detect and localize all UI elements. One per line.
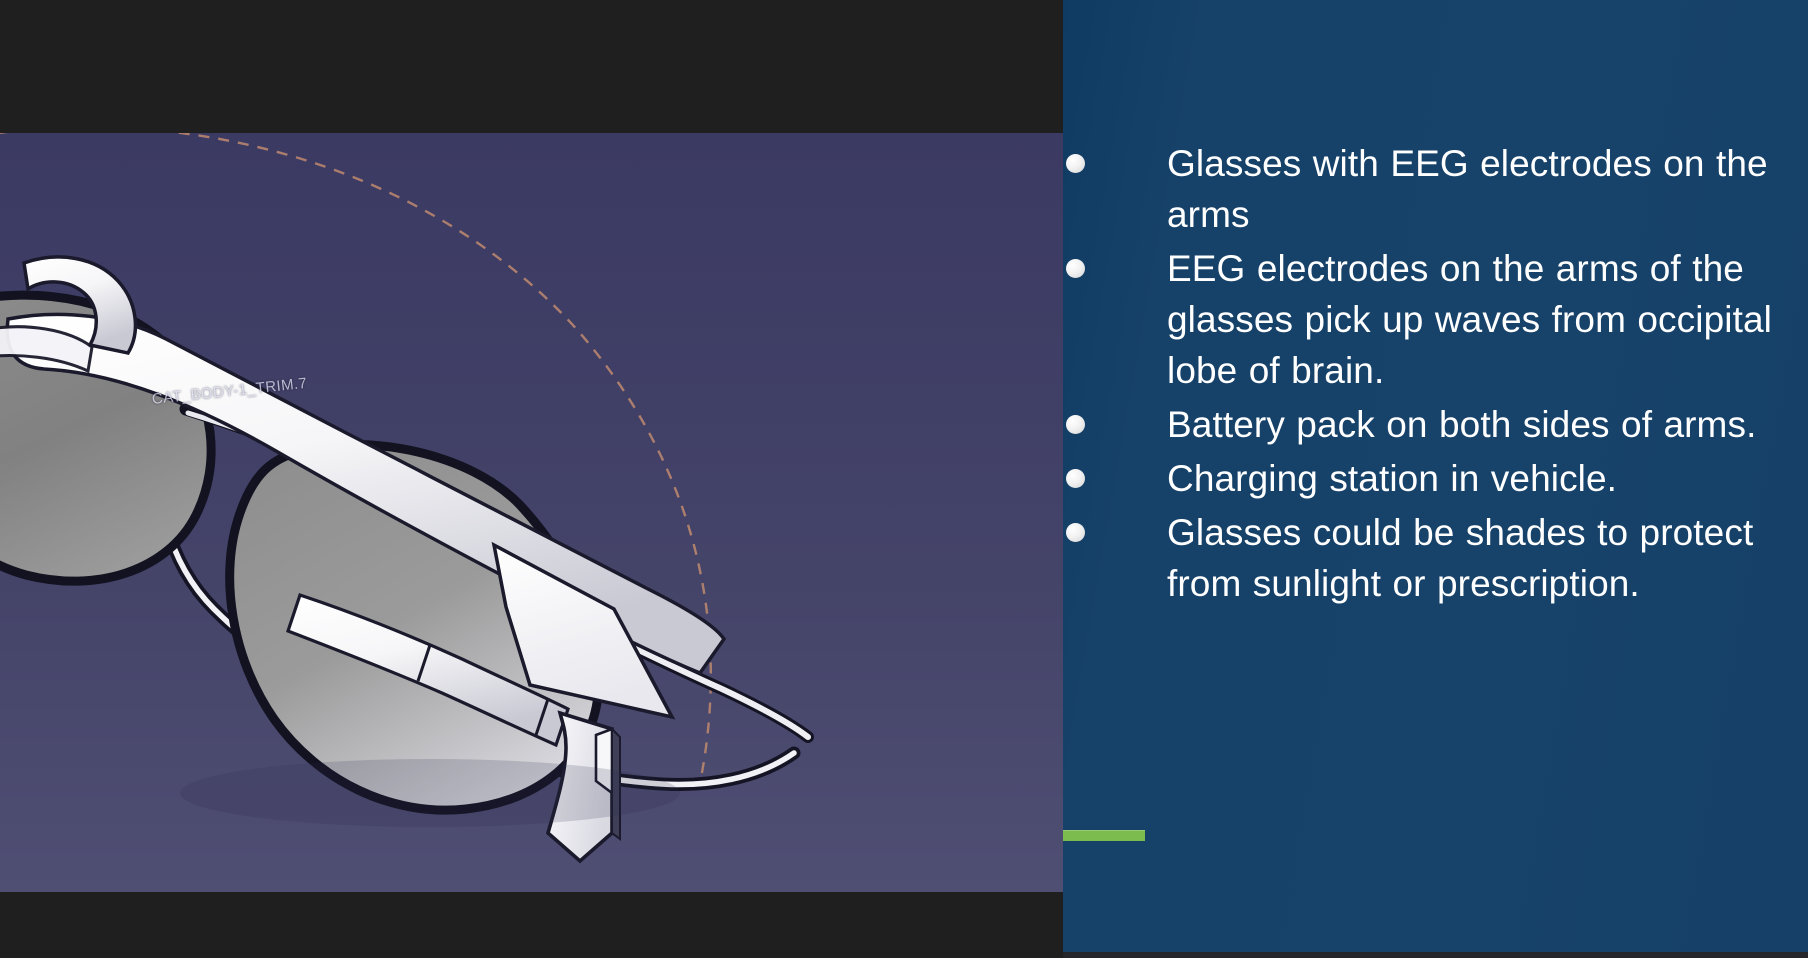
bullet-dot-icon — [1066, 415, 1085, 434]
list-item: Battery pack on both sides of arms. — [1063, 399, 1808, 450]
cad-glasses-render — [0, 133, 1063, 892]
list-item: EEG electrodes on the arms of the glasse… — [1063, 243, 1808, 396]
list-item: Glasses with EEG electrodes on the arms — [1063, 138, 1808, 240]
presentation-slide: CAT_BODY-1_TRIM.7 Glasses with EEG elect… — [0, 0, 1808, 958]
list-item-text: Charging station in vehicle. — [1167, 453, 1784, 504]
cad-viewport: CAT_BODY-1_TRIM.7 — [0, 133, 1063, 892]
bullet-dot-icon — [1066, 259, 1085, 278]
bullet-list: Glasses with EEG electrodes on the arms … — [1063, 138, 1808, 612]
bullet-dot-icon — [1066, 469, 1085, 488]
list-item-text: Battery pack on both sides of arms. — [1167, 399, 1784, 450]
list-item-text: Glasses could be shades to protect from … — [1167, 507, 1784, 609]
panel-bottom-edge — [1063, 952, 1808, 958]
list-item: Charging station in vehicle. — [1063, 453, 1808, 504]
content-panel: Glasses with EEG electrodes on the arms … — [1063, 0, 1808, 952]
bullet-dot-icon — [1066, 154, 1085, 173]
accent-bar — [1063, 830, 1145, 841]
list-item-text: Glasses with EEG electrodes on the arms — [1167, 138, 1784, 240]
bullet-dot-icon — [1066, 523, 1085, 542]
list-item-text: EEG electrodes on the arms of the glasse… — [1167, 243, 1784, 396]
letterbox-bottom-bar — [0, 892, 1063, 958]
media-pane: CAT_BODY-1_TRIM.7 — [0, 0, 1063, 958]
letterbox-top-bar — [0, 0, 1063, 133]
list-item: Glasses could be shades to protect from … — [1063, 507, 1808, 609]
